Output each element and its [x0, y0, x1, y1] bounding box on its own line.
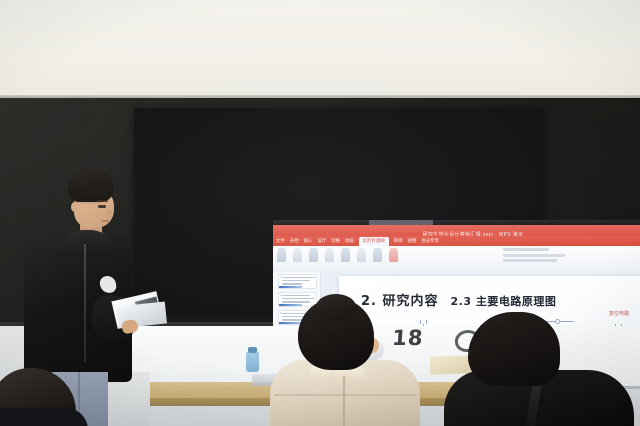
tab-view[interactable]: 视图	[408, 238, 417, 244]
app-titlebar: 研究生毕业设计答辩汇报.pptx - WPS 演示	[273, 225, 640, 236]
thumb-line	[282, 277, 315, 278]
thumb-number: 2	[280, 294, 281, 297]
ribbon-option-line-2	[503, 254, 565, 257]
thumb-line	[282, 280, 310, 281]
custom-show-icon[interactable]	[309, 248, 318, 262]
ribbon-option-line-3	[503, 259, 557, 262]
from-beginning-icon[interactable]	[277, 248, 286, 262]
audience-center-hair-bun	[316, 294, 356, 320]
presenter-zipper	[84, 244, 86, 362]
audience-front-left-shoulders	[0, 408, 88, 426]
presenter-eyebrow	[96, 200, 108, 202]
audience-center-back-seam	[343, 376, 345, 426]
tab-member[interactable]: 会员专享	[421, 238, 439, 244]
ribbon-tabs[interactable]: 文件 开始 插入 设计 切换 动画 幻灯片放映 审阅 视图 会员专享	[273, 236, 640, 246]
tab-file[interactable]: 文件	[276, 238, 285, 244]
presenter-mouth	[101, 220, 109, 222]
upper-wall	[0, 0, 640, 97]
audience-center-shoulder-line	[274, 394, 416, 396]
tab-transitions[interactable]: 切换	[331, 238, 340, 244]
laser-pointer-icon[interactable]	[389, 248, 398, 262]
audience-right-hair	[468, 312, 560, 386]
tab-design[interactable]: 设计	[317, 238, 326, 244]
thumb-line	[282, 283, 302, 284]
thumb-line	[282, 295, 310, 296]
audience-center	[250, 298, 440, 426]
slide-title-sub: 2.3 主要电路原理图	[451, 295, 557, 308]
ribbon-option-line-1	[503, 248, 549, 251]
ribbon-icon-row[interactable]	[277, 248, 398, 262]
hide-slide-icon[interactable]	[373, 248, 382, 262]
slide-thumbnail-1[interactable]: 1	[278, 274, 317, 289]
from-current-icon[interactable]	[293, 248, 302, 262]
tab-insert[interactable]: 插入	[304, 238, 313, 244]
tab-review[interactable]: 审阅	[394, 238, 403, 244]
presenter-eye	[98, 205, 106, 208]
classroom-presentation-photo: 研究生毕业设计答辩汇报.pptx - WPS 演示 文件 开始 插入 设计 切换…	[0, 0, 640, 426]
thumb-number: 1	[280, 276, 281, 279]
tab-animations[interactable]: 动画	[345, 238, 354, 244]
record-icon[interactable]	[357, 248, 366, 262]
presenter-nose	[106, 209, 112, 218]
tab-slideshow[interactable]: 幻灯片放映	[359, 237, 389, 246]
tab-home[interactable]: 开始	[290, 238, 299, 244]
thumb-accent-bar	[279, 286, 302, 288]
ribbon-options-group	[503, 248, 613, 265]
audience-right	[452, 312, 640, 426]
smart-display-bezel: 研究生毕业设计答辩汇报.pptx - WPS 演示 文件 开始 插入 设计 切换…	[134, 108, 544, 314]
presenter-view-icon[interactable]	[325, 248, 334, 262]
rehearse-icon[interactable]	[341, 248, 350, 262]
